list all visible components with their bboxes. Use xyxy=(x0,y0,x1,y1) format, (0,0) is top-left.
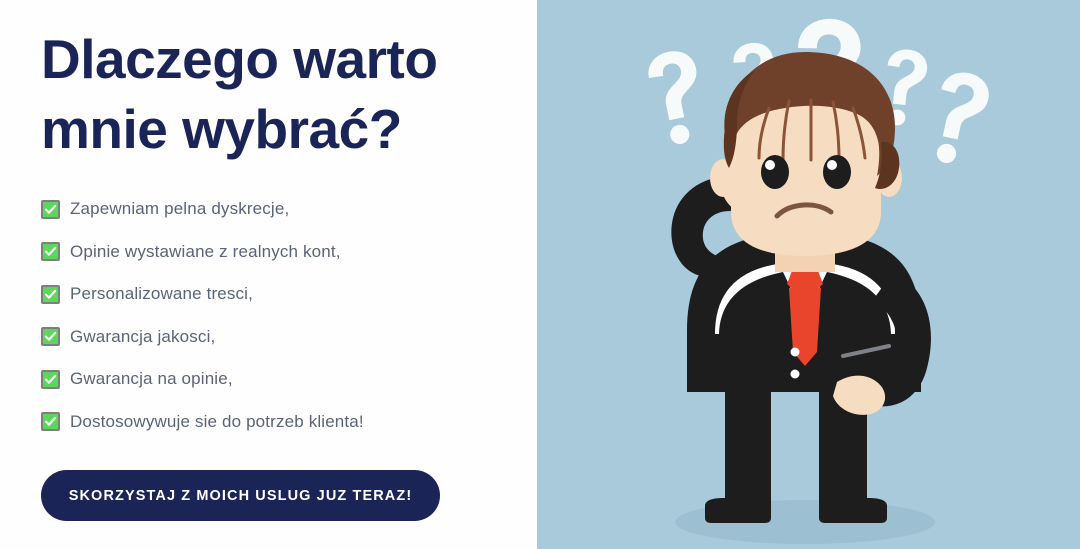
benefit-label: Zapewniam pelna dyskrecje, xyxy=(70,199,289,219)
benefit-label: Personalizowane tresci, xyxy=(70,284,253,304)
right-eye-highlight xyxy=(827,160,837,170)
left-shoe xyxy=(705,498,771,523)
right-shoe xyxy=(819,498,887,523)
right-eye xyxy=(823,155,851,189)
benefit-label: Dostosowywuje sie do potrzeb klienta! xyxy=(70,412,364,432)
illustration-panel xyxy=(537,0,1080,549)
list-item: Personalizowane tresci, xyxy=(41,273,511,316)
left-eye xyxy=(761,155,789,189)
jacket-button-bottom xyxy=(791,370,800,379)
page-title-line-1: Dlaczego warto xyxy=(41,24,511,94)
check-square-icon xyxy=(41,370,60,389)
page-title-line-2: mnie wybrać? xyxy=(41,94,511,164)
cta-button[interactable]: SKORZYSTAJ Z MOICH USLUG JUZ TERAZ! xyxy=(41,470,440,521)
benefits-list: Zapewniam pelna dyskrecje, Opinie wystaw… xyxy=(41,188,511,443)
list-item: Gwarancja na opinie, xyxy=(41,358,511,401)
check-square-icon xyxy=(41,327,60,346)
confused-businessman-illustration xyxy=(537,0,1080,549)
benefit-label: Opinie wystawiane z realnych kont, xyxy=(70,242,341,262)
left-leg xyxy=(725,380,771,505)
list-item: Zapewniam pelna dyskrecje, xyxy=(41,188,511,231)
check-square-icon xyxy=(41,285,60,304)
list-item: Opinie wystawiane z realnych kont, xyxy=(41,231,511,274)
page-title: Dlaczego warto mnie wybrać? xyxy=(41,24,511,164)
benefit-label: Gwarancja na opinie, xyxy=(70,369,233,389)
landing-page-section: Dlaczego warto mnie wybrać? Zapewniam pe… xyxy=(0,0,1080,549)
list-item: Dostosowywuje sie do potrzeb klienta! xyxy=(41,401,511,444)
benefit-label: Gwarancja jakosci, xyxy=(70,327,215,347)
check-square-icon xyxy=(41,412,60,431)
list-item: Gwarancja jakosci, xyxy=(41,316,511,359)
check-square-icon xyxy=(41,242,60,261)
content-panel: Dlaczego warto mnie wybrać? Zapewniam pe… xyxy=(0,0,537,549)
check-square-icon xyxy=(41,200,60,219)
left-eye-highlight xyxy=(765,160,775,170)
jacket-button-top xyxy=(791,348,800,357)
